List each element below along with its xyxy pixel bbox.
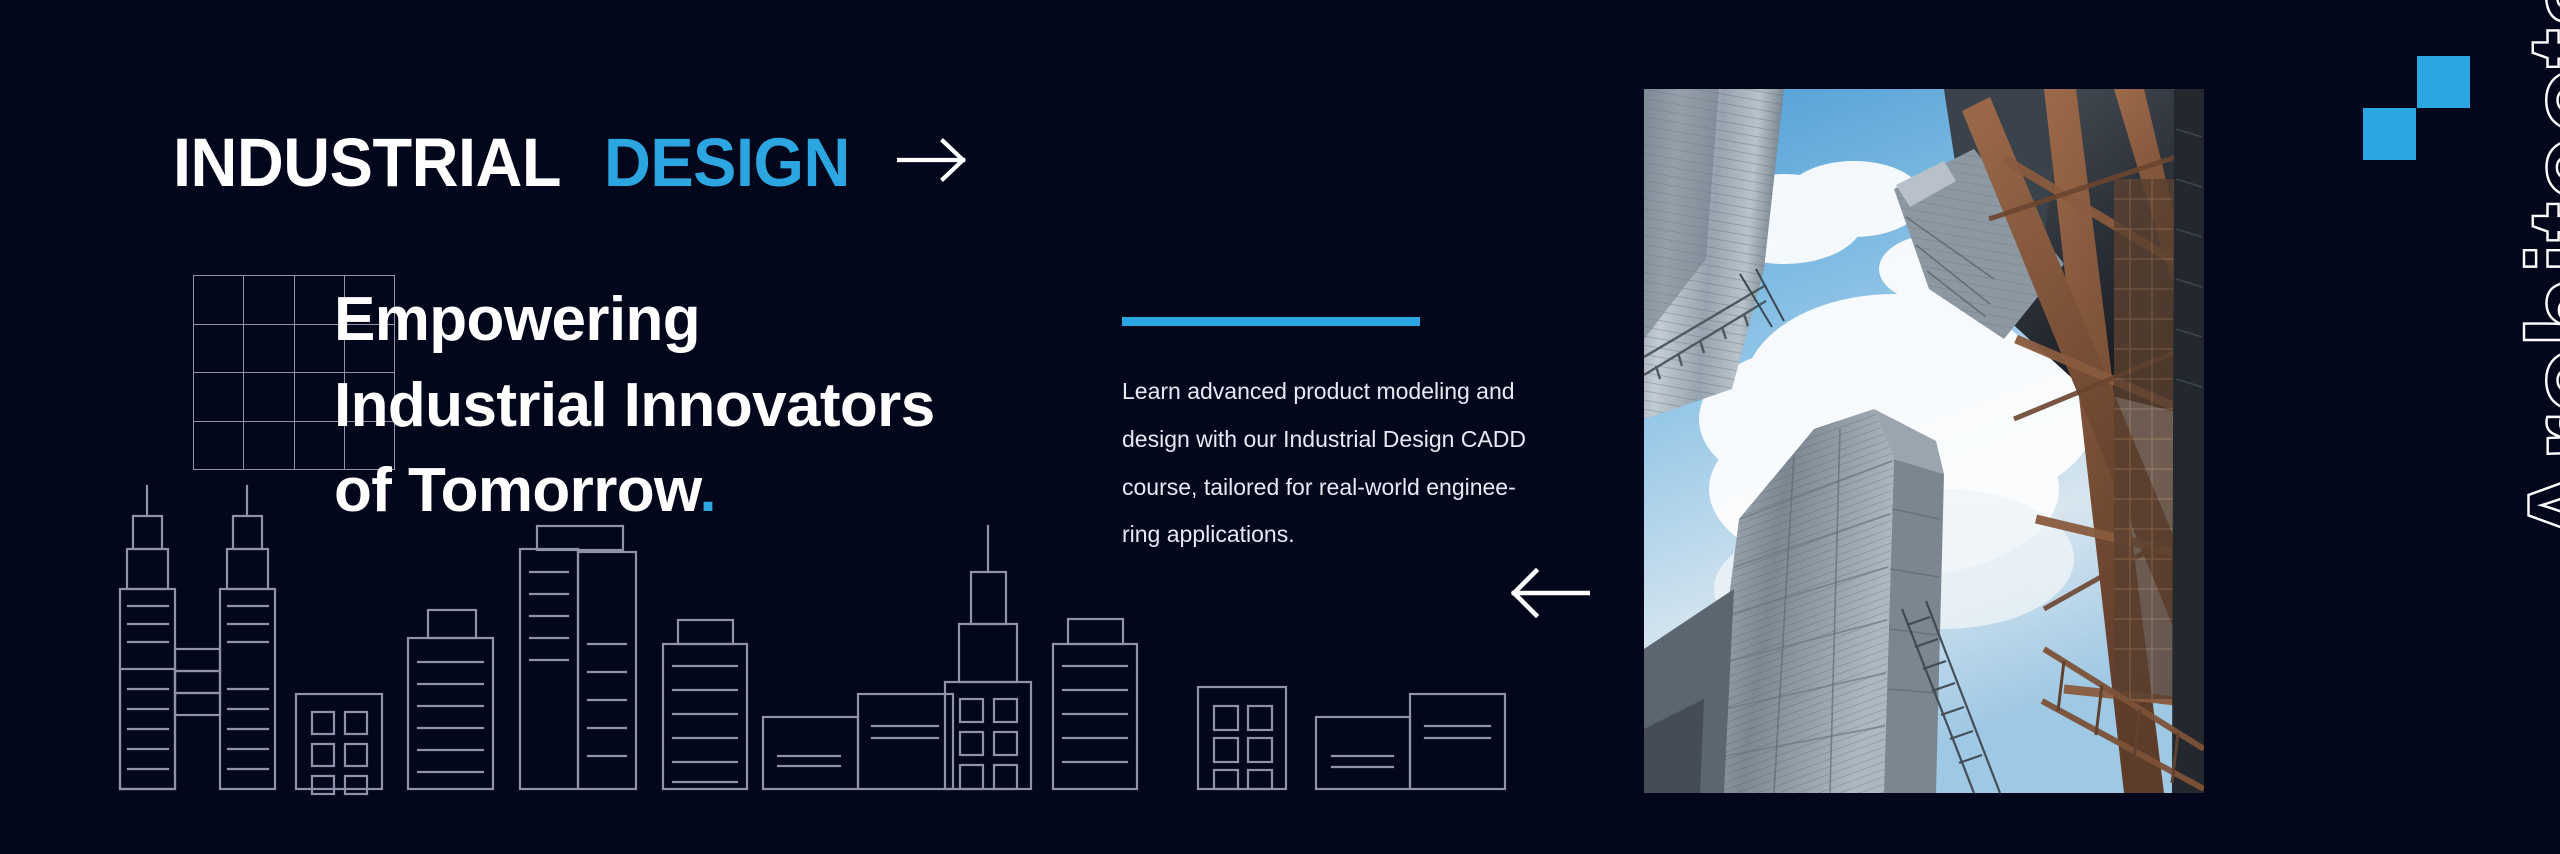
grid-cell (244, 325, 294, 374)
industrial-silos-photo (1644, 89, 2204, 793)
grid-cell (194, 276, 244, 325)
vertical-brand-text: Architects (2510, 0, 2560, 548)
banner-root: INDUSTRIAL DESIGN Empowering Industrial … (0, 0, 2560, 854)
grid-cell (194, 422, 244, 471)
two-square-logo-icon[interactable] (2363, 56, 2471, 160)
logo-square-bottom (2363, 108, 2416, 160)
grid-cell (244, 276, 294, 325)
description-line-1: Learn advanced product modeling and (1122, 378, 1515, 404)
grid-cell (194, 373, 244, 422)
eyebrow-word-industrial: INDUSTRIAL (173, 128, 561, 197)
headline-accent-period: . (699, 456, 716, 525)
eyebrow-word-design: DESIGN (604, 128, 850, 197)
grid-cell (244, 422, 294, 471)
headline-line-2: Industrial Innovators (334, 371, 935, 440)
description-line-3: course, tailored for real-world enginee- (1122, 474, 1516, 500)
page-title: Empowering Industrial Innovators of Tomo… (334, 277, 1164, 534)
grid-cell (194, 325, 244, 374)
description-line-2: design with our Industrial Design CADD (1122, 426, 1526, 452)
eyebrow-title: INDUSTRIAL DESIGN (173, 128, 971, 197)
description-line-4: ring applications. (1122, 521, 1295, 547)
vertical-brand-label: Architects (2500, 0, 2560, 535)
arrow-right-icon[interactable] (897, 138, 971, 187)
headline-line-3: of Tomorrow (334, 456, 699, 525)
headline-line-1: Empowering (334, 285, 700, 354)
arrow-left-icon[interactable] (1508, 567, 1590, 624)
grid-cell (244, 373, 294, 422)
description-paragraph: Learn advanced product modeling and desi… (1122, 368, 1592, 559)
logo-square-top (2417, 56, 2470, 108)
accent-divider (1122, 317, 1420, 326)
